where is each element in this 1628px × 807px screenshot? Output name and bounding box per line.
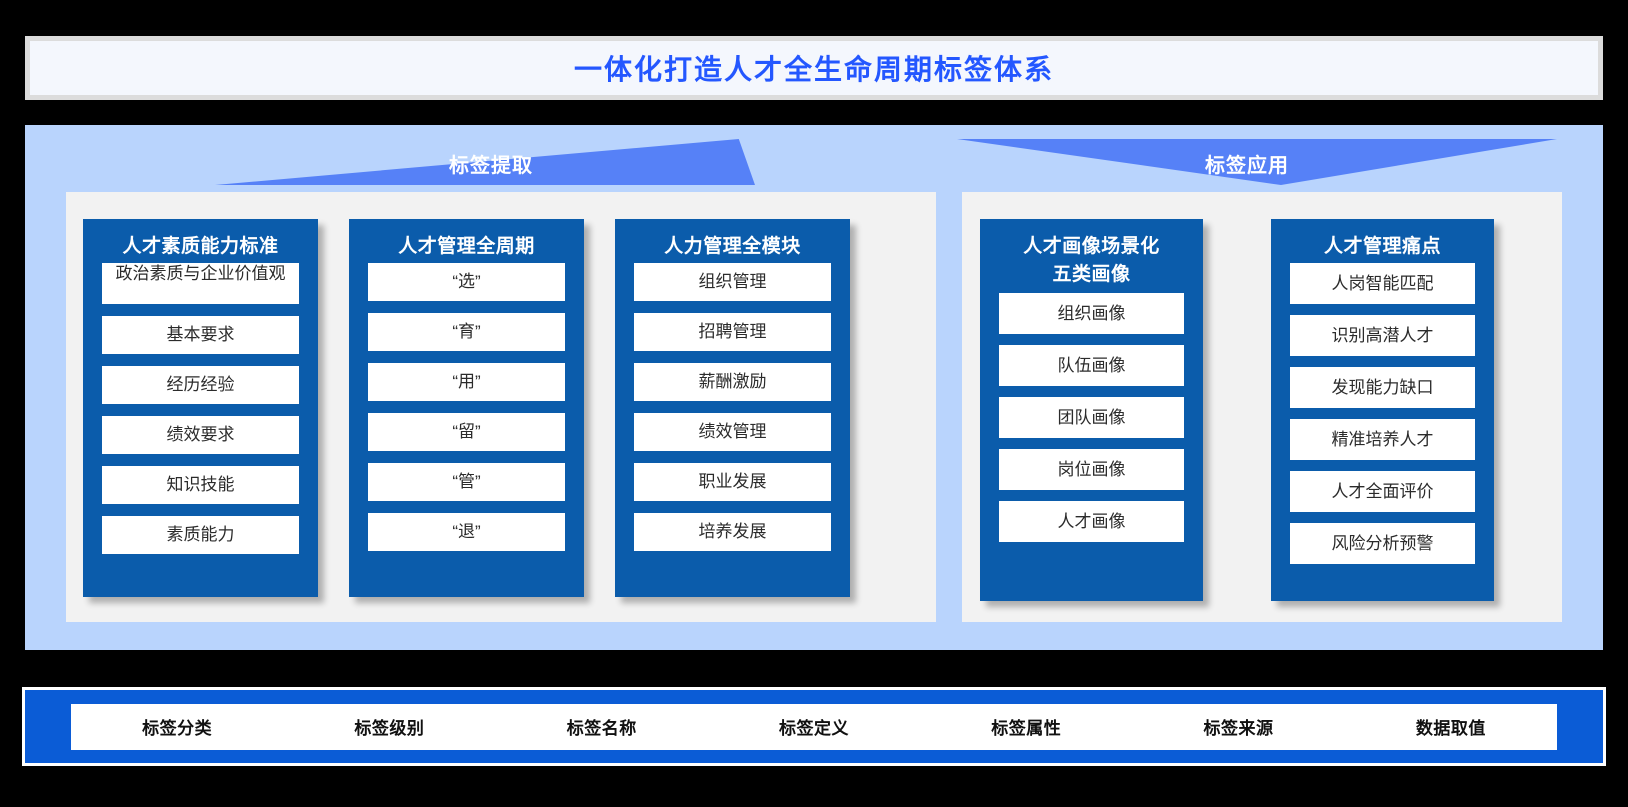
list-item[interactable]: 组织管理 [634, 263, 831, 301]
list-item[interactable]: “用” [368, 363, 565, 401]
card-item-list: 组织画像 队伍画像 团队画像 岗位画像 人才画像 [999, 293, 1184, 542]
tag-attributes-bar: 标签分类 标签级别 标签名称 标签定义 标签属性 标签来源 数据取值 [22, 687, 1606, 766]
list-item[interactable]: 团队画像 [999, 397, 1184, 438]
card-title: 人才管理痛点 [1290, 233, 1475, 261]
card-hr-modules[interactable]: 人力管理全模块 组织管理 招聘管理 薪酬激励 绩效管理 职业发展 培养发展 [615, 219, 850, 597]
list-item[interactable]: “管” [368, 463, 565, 501]
card-item-list: “选” “育” “用” “留” “管” “退” [368, 263, 565, 551]
card-title-line-2: 五类画像 [999, 261, 1184, 289]
list-item[interactable]: 识别高潜人才 [1290, 315, 1475, 356]
list-item[interactable]: 职业发展 [634, 463, 831, 501]
page-title: 一体化打造人才全生命周期标签体系 [574, 48, 1054, 88]
card-title: 人才管理全周期 [368, 233, 565, 261]
list-item[interactable]: “育” [368, 313, 565, 351]
list-item[interactable]: 薪酬激励 [634, 363, 831, 401]
column-header-tag-attribute[interactable]: 标签属性 [920, 714, 1132, 739]
list-item[interactable]: 精准培养人才 [1290, 419, 1475, 460]
list-item[interactable]: 发现能力缺口 [1290, 367, 1475, 408]
card-talent-management-painpoints[interactable]: 人才管理痛点 人岗智能匹配 识别高潜人才 发现能力缺口 精准培养人才 人才全面评… [1271, 219, 1494, 601]
list-item[interactable]: 岗位画像 [999, 449, 1184, 490]
column-header-data-value[interactable]: 数据取值 [1345, 714, 1557, 739]
list-item[interactable]: “退” [368, 513, 565, 551]
tag-application-group: 人才画像场景化 五类画像 组织画像 队伍画像 团队画像 岗位画像 人才画像 人才… [962, 192, 1562, 622]
list-item[interactable]: 人岗智能匹配 [1290, 263, 1475, 304]
list-item[interactable]: 人才全面评价 [1290, 471, 1475, 512]
column-header-tag-category[interactable]: 标签分类 [71, 714, 283, 739]
card-title-line-1: 人才画像场景化 [999, 233, 1184, 261]
list-item[interactable]: 政治素质与企业价值观 [102, 263, 299, 304]
page-title-bar: 一体化打造人才全生命周期标签体系 [25, 36, 1603, 100]
card-talent-quality-standard[interactable]: 人才素质能力标准 政治素质与企业价值观 基本要求 经历经验 绩效要求 知识技能 … [83, 219, 318, 597]
card-talent-portrait-scenarios[interactable]: 人才画像场景化 五类画像 组织画像 队伍画像 团队画像 岗位画像 人才画像 [980, 219, 1203, 601]
column-header-tag-source[interactable]: 标签来源 [1132, 714, 1344, 739]
banner-tag-extraction-label: 标签提取 [449, 149, 533, 178]
list-item[interactable]: 风险分析预警 [1290, 523, 1475, 564]
column-header-tag-definition[interactable]: 标签定义 [708, 714, 920, 739]
list-item[interactable]: 绩效管理 [634, 413, 831, 451]
tag-extraction-group: 人才素质能力标准 政治素质与企业价值观 基本要求 经历经验 绩效要求 知识技能 … [66, 192, 936, 622]
card-item-list: 政治素质与企业价值观 基本要求 经历经验 绩效要求 知识技能 素质能力 [102, 263, 299, 554]
card-title: 人才画像场景化 五类画像 [999, 233, 1184, 291]
diagram-stage: 标签提取 标签应用 人才素质能力标准 政治素质与企业价值观 基本要求 经历经验 … [25, 125, 1603, 650]
card-title: 人才素质能力标准 [102, 233, 299, 261]
card-title: 人力管理全模块 [634, 233, 831, 261]
tag-attributes-row: 标签分类 标签级别 标签名称 标签定义 标签属性 标签来源 数据取值 [71, 704, 1557, 750]
list-item[interactable]: 人才画像 [999, 501, 1184, 542]
banner-tag-application: 标签应用 [957, 139, 1557, 185]
list-item[interactable]: 组织画像 [999, 293, 1184, 334]
card-talent-lifecycle[interactable]: 人才管理全周期 “选” “育” “用” “留” “管” “退” [349, 219, 584, 597]
list-item[interactable]: 素质能力 [102, 516, 299, 554]
column-header-tag-level[interactable]: 标签级别 [283, 714, 495, 739]
banner-tag-application-label: 标签应用 [1205, 149, 1289, 178]
card-item-list: 组织管理 招聘管理 薪酬激励 绩效管理 职业发展 培养发展 [634, 263, 831, 551]
list-item[interactable]: 招聘管理 [634, 313, 831, 351]
list-item[interactable]: 绩效要求 [102, 416, 299, 454]
card-item-list: 人岗智能匹配 识别高潜人才 发现能力缺口 精准培养人才 人才全面评价 风险分析预… [1290, 263, 1475, 564]
list-item[interactable]: 培养发展 [634, 513, 831, 551]
column-header-tag-name[interactable]: 标签名称 [496, 714, 708, 739]
list-item[interactable]: 经历经验 [102, 366, 299, 404]
list-item[interactable]: 知识技能 [102, 466, 299, 504]
list-item[interactable]: “选” [368, 263, 565, 301]
list-item[interactable]: 基本要求 [102, 316, 299, 354]
list-item[interactable]: “留” [368, 413, 565, 451]
list-item[interactable]: 队伍画像 [999, 345, 1184, 386]
banner-tag-extraction: 标签提取 [215, 139, 755, 185]
